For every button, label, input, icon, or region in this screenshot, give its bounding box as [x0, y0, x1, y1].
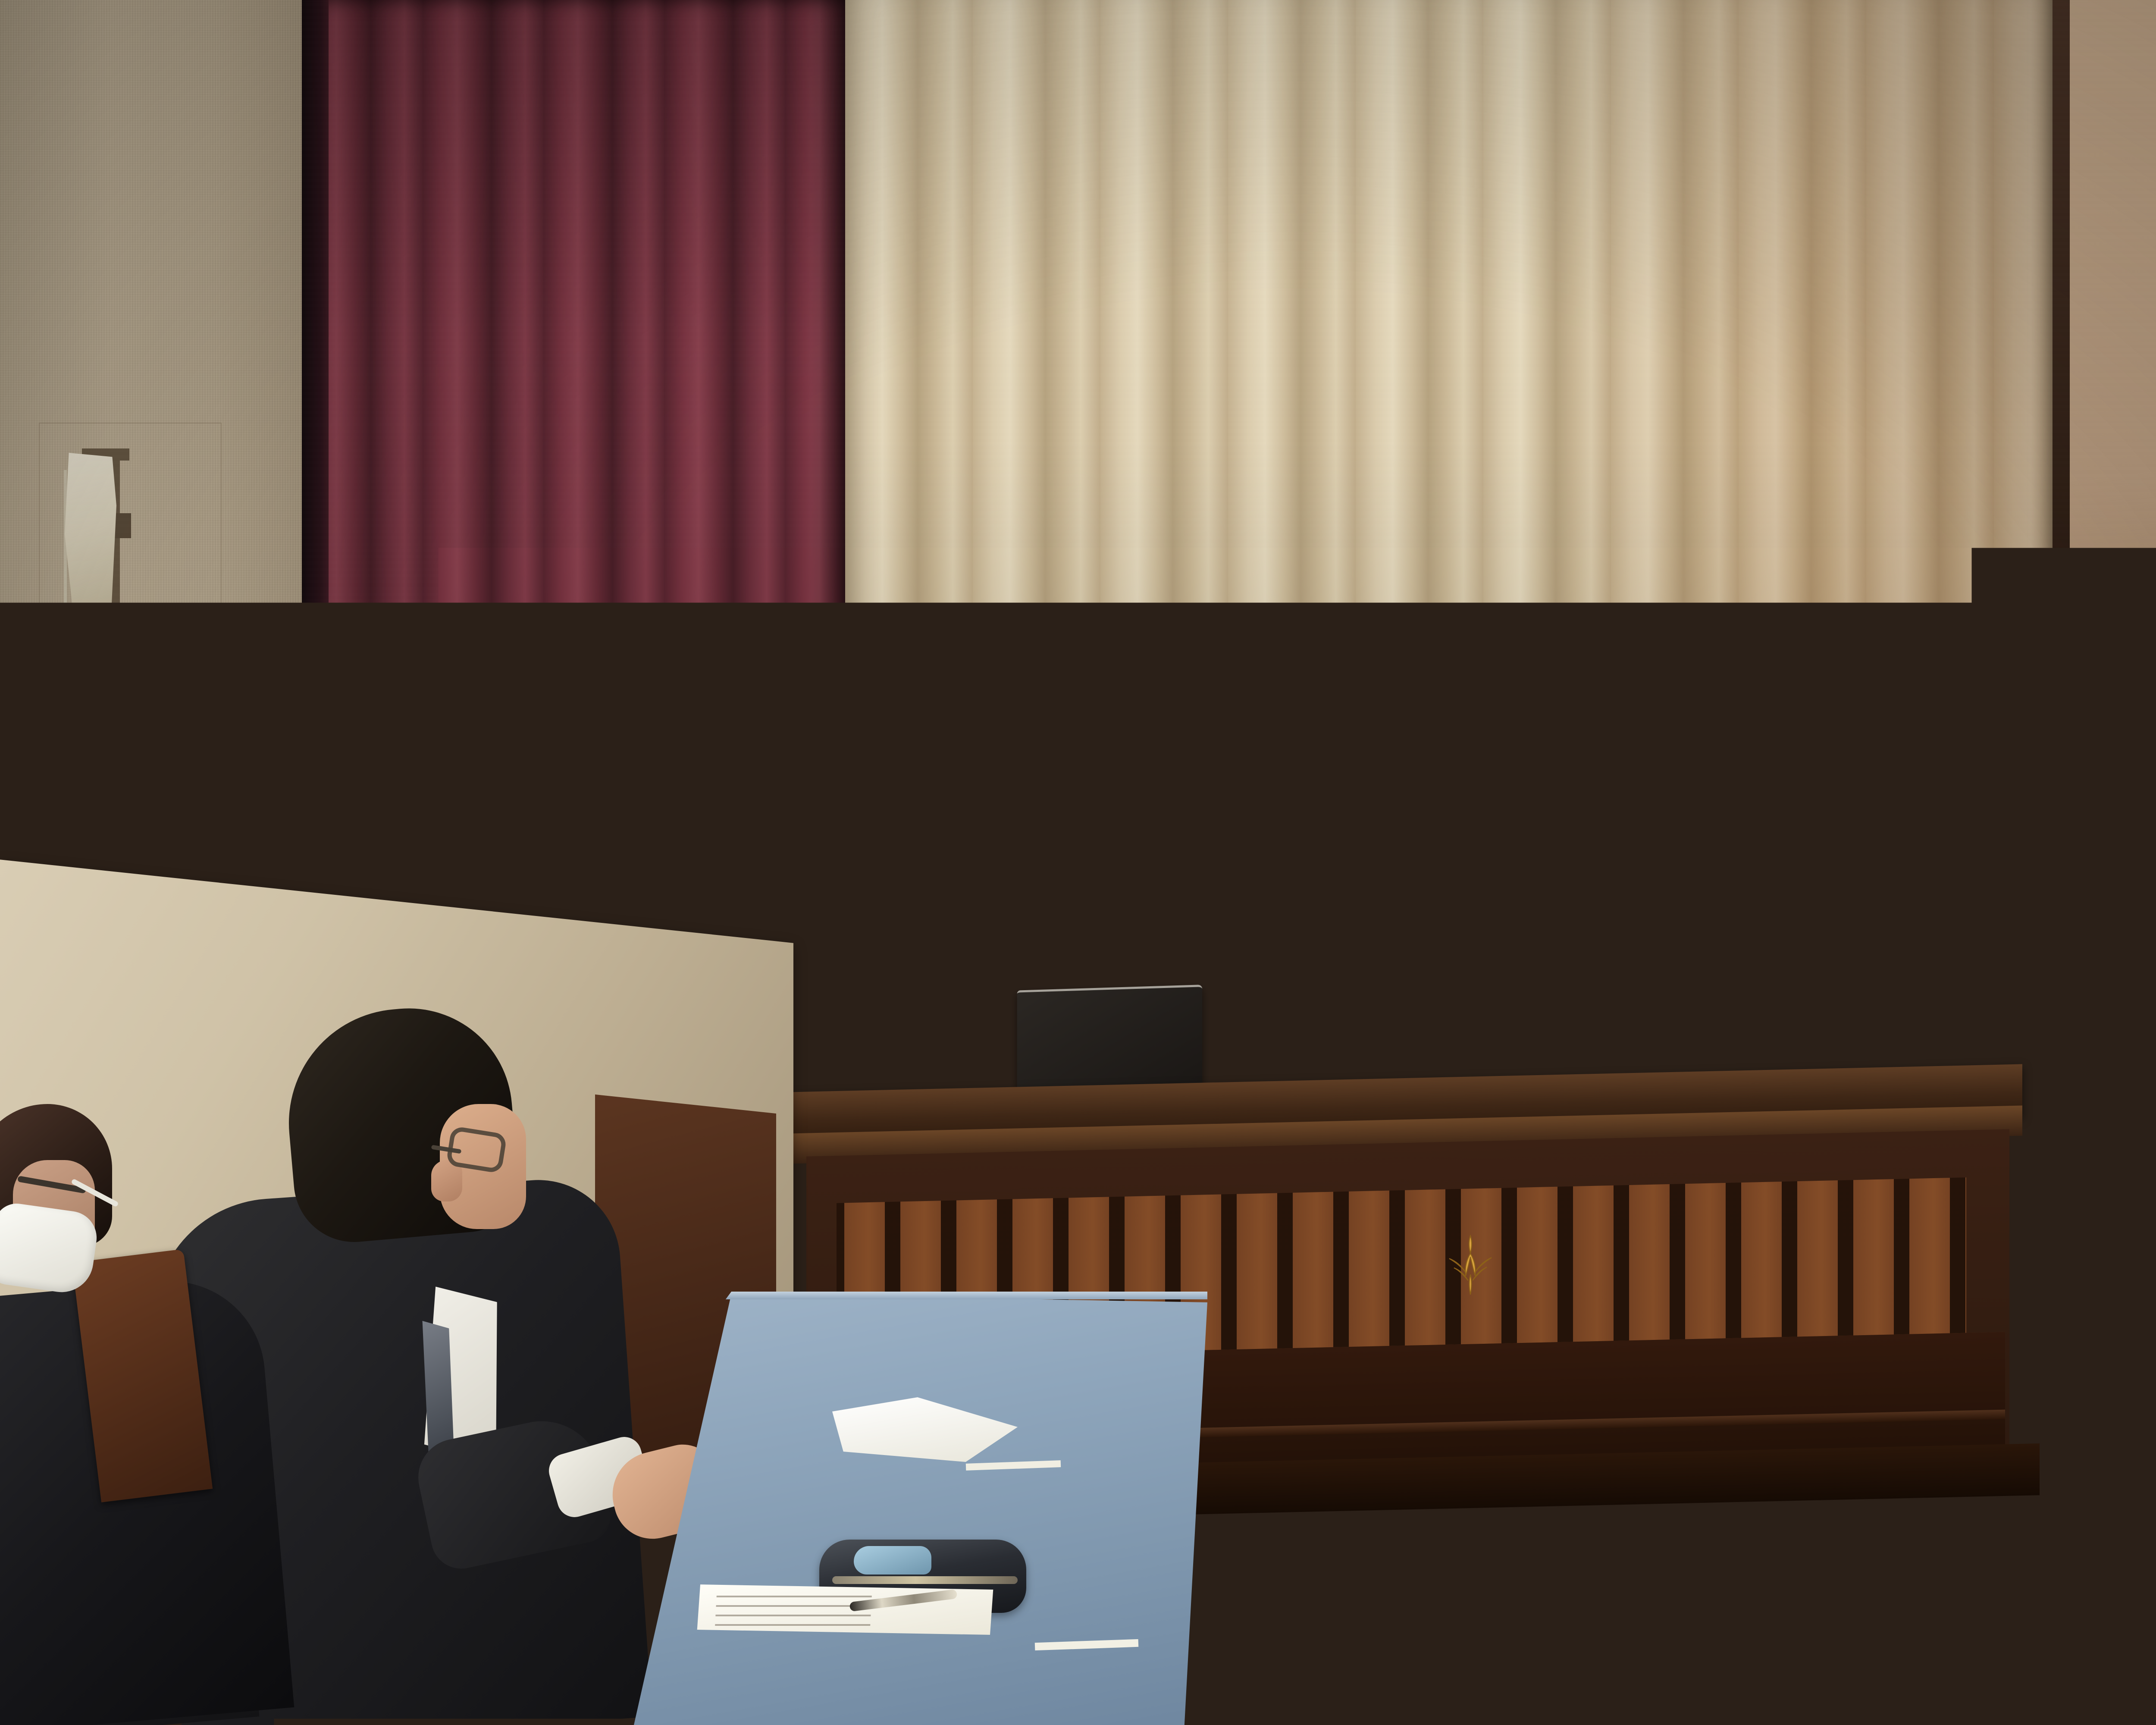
- projection-screen-surface: [2070, 0, 2156, 596]
- water-bottle-label: [1405, 1021, 1432, 1044]
- printed-card-text-lines: [715, 1596, 872, 1626]
- speaker-stem: [100, 716, 107, 806]
- water-bottle-cap: [1408, 980, 1429, 995]
- speaker-mount-lower: [25, 733, 116, 743]
- cloth-support-rod: [64, 470, 67, 651]
- wall-dark-band-upper: [147, 707, 310, 772]
- speaker-mount-upper: [25, 712, 124, 724]
- pencil-case-zipper[interactable]: [832, 1576, 1018, 1584]
- speaker-ear: [970, 811, 994, 844]
- pencil-case-light-panel: [854, 1546, 931, 1574]
- tan-curtain-warm-light: [1535, 0, 2096, 1251]
- desk-crest-icon: [1440, 1233, 1501, 1298]
- speaker-knob-right: [97, 690, 105, 713]
- desk-golden-crest: [1440, 1233, 1501, 1298]
- lecture-hall-scene: 20 CC を取る でも僕: [0, 0, 2156, 1725]
